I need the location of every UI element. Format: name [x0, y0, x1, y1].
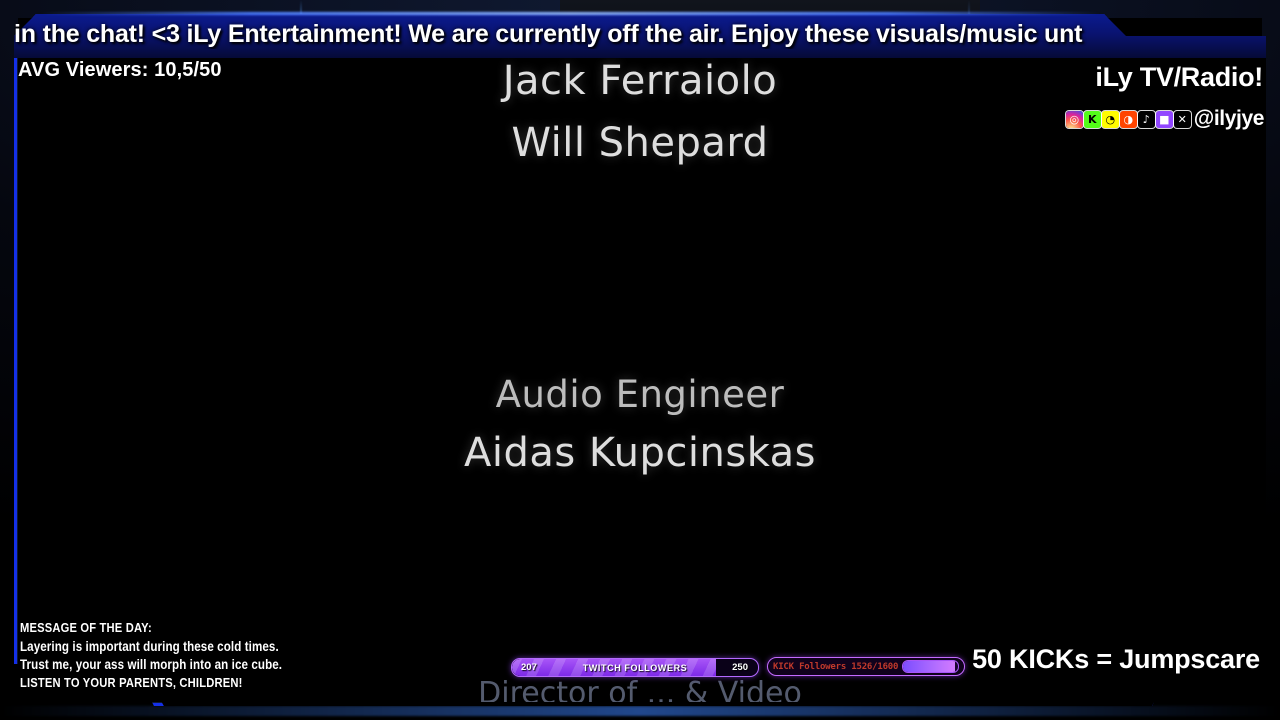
motd-title: MESSAGE OF THE DAY: [20, 620, 282, 635]
motd-line-2: Trust me, your ass will morph into an ic… [20, 657, 282, 672]
twitch-icon[interactable]: ■ [1156, 111, 1173, 128]
frame-top-glow [40, 12, 1100, 15]
social-handle: @ilyjye [1194, 107, 1264, 131]
twitch-goal-label: TWITCH FOLLOWERS [512, 659, 758, 676]
avg-viewers-label: AVG Viewers: 10,5/50 [18, 59, 222, 82]
stream-overlay-screen: Audio Editors Jack Ferraiolo Will Shepar… [0, 0, 1280, 720]
motd-footer: LISTEN TO YOUR PARENTS, CHILDREN! [20, 675, 282, 690]
kick-follower-goal-bar: KICK Followers 1526/1600 [767, 657, 965, 676]
kick-icon[interactable]: K [1084, 111, 1101, 128]
x-twitter-icon[interactable]: ✕ [1174, 111, 1191, 128]
twitch-goal-current: 207 [521, 659, 537, 676]
snapchat-icon[interactable]: ◔ [1102, 111, 1119, 128]
twitch-goal-target: 250 [732, 659, 748, 676]
reddit-icon[interactable]: ◑ [1120, 111, 1137, 128]
tiktok-icon[interactable]: ♪ [1138, 111, 1155, 128]
brand-title: iLy TV/Radio! [1095, 62, 1263, 93]
kick-goal-label: KICK Followers 1526/1600 [773, 662, 898, 672]
background-horizontal-streak [0, 706, 1280, 716]
jumpscare-note: 50 KICKs = Jumpscare [972, 644, 1260, 675]
instagram-icon[interactable]: ◎ [1066, 111, 1083, 128]
kick-goal-track [902, 660, 959, 673]
twitch-follower-goal-bar: TWITCH FOLLOWERS 207 250 [511, 658, 759, 677]
message-of-the-day: MESSAGE OF THE DAY: Layering is importan… [20, 620, 282, 690]
credits-name: Aidas Kupcinskas [18, 430, 1262, 476]
credits-role: Audio Engineer [18, 373, 1262, 416]
motd-line-1: Layering is important during these cold … [20, 639, 282, 654]
ticker-text: in the chat! <3 iLy Entertainment! We ar… [14, 20, 1276, 49]
kick-goal-fill [903, 661, 955, 672]
social-links-row: ◎ K ◔ ◑ ♪ ■ ✕ @ilyjye [1066, 107, 1264, 131]
